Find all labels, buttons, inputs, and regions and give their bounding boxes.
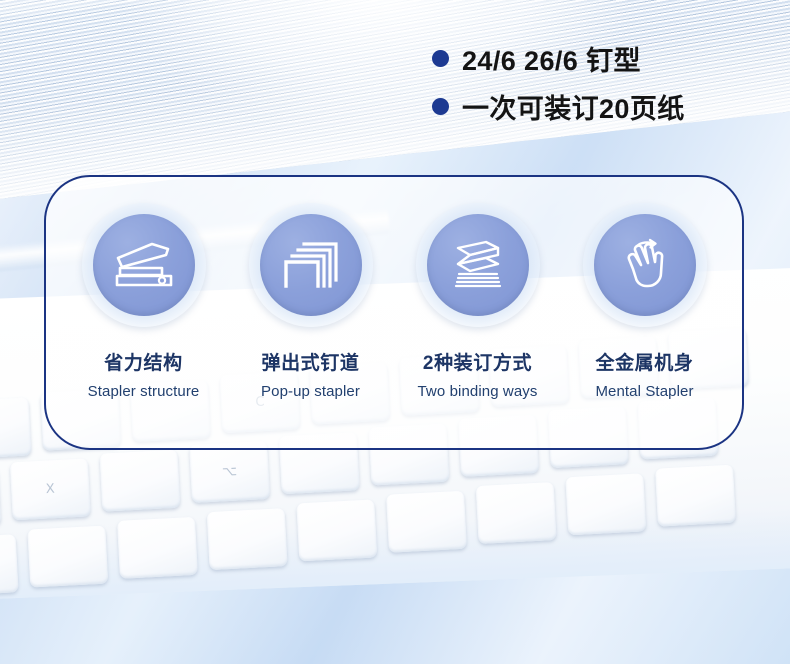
feature-label-cn: 省力结构 xyxy=(104,348,182,375)
feature-panel: 省力结构 Stapler structure xyxy=(44,175,744,450)
headline-bullet-item: 一次可装订20页纸 xyxy=(432,82,772,130)
feature-label-en: Stapler structure xyxy=(88,383,200,400)
headline-bullet-text: 一次可装订20页纸 xyxy=(462,87,685,126)
headline-bullet-item: 24/6 26/6 钉型 xyxy=(432,34,772,82)
stapler-side-view-icon xyxy=(112,237,176,293)
hand-palm-rotate-icon xyxy=(617,235,673,295)
feature-icon-halo xyxy=(82,203,206,327)
feature-icon-circle xyxy=(594,214,696,316)
key-glyph: X xyxy=(11,480,90,499)
headline-bullet-list: 24/6 26/6 钉型 一次可装订20页纸 xyxy=(432,34,772,130)
key-glyph: ⌥ xyxy=(190,462,269,481)
key-glyph: ⌘ xyxy=(0,419,30,438)
feature-icon-circle xyxy=(260,214,362,316)
feature-list: 省力结构 Stapler structure xyxy=(46,177,742,448)
feature-item-stapler-structure: 省力结构 Stapler structure xyxy=(64,203,224,400)
product-feature-image: ⌘ C X ⌥ 24/6 26/6 钉型 xyxy=(0,0,790,664)
feature-icon-halo xyxy=(249,203,373,327)
feature-label-cn: 弹出式钉道 xyxy=(261,348,359,375)
feature-icon-halo xyxy=(416,203,540,327)
feature-label-en: Two binding ways xyxy=(418,383,538,400)
feature-label-cn: 2种装订方式 xyxy=(423,348,532,375)
stacked-staples-icon xyxy=(280,237,342,293)
feature-label-cn: 全金属机身 xyxy=(595,348,693,375)
feature-icon-circle xyxy=(93,214,195,316)
bullet-dot-icon xyxy=(432,98,449,115)
feature-icon-halo xyxy=(583,203,707,327)
feature-label-en: Pop-up stapler xyxy=(261,383,360,400)
feature-label-en: Mental Stapler xyxy=(595,383,693,400)
feature-item-pop-up-stapler: 弹出式钉道 Pop-up stapler xyxy=(231,203,391,400)
feature-item-metal-body: 全金属机身 Mental Stapler xyxy=(565,203,725,400)
folded-paper-stack-icon xyxy=(448,236,508,294)
feature-icon-circle xyxy=(427,214,529,316)
bullet-dot-icon xyxy=(432,50,449,67)
headline-bullet-text: 24/6 26/6 钉型 xyxy=(462,39,641,78)
feature-item-two-binding-ways: 2种装订方式 Two binding ways xyxy=(398,203,558,400)
